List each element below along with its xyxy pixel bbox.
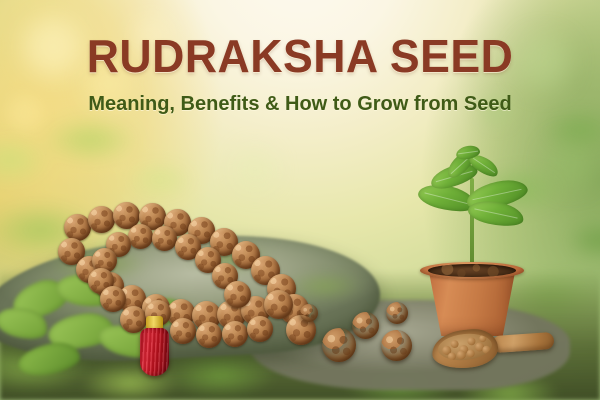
- banner-text-block: RUDRAKSHA SEED Meaning, Benefits & How t…: [0, 30, 600, 117]
- rudraksha-seed-hero-banner: RUDRAKSHA SEED Meaning, Benefits & How t…: [0, 0, 600, 400]
- red-tassel: [140, 328, 169, 376]
- page-title: RUDRAKSHA SEED: [9, 30, 591, 82]
- tassel-strands: [140, 328, 169, 376]
- page-subtitle: Meaning, Benefits & How to Grow from See…: [0, 91, 600, 117]
- pot-soil: [428, 264, 516, 277]
